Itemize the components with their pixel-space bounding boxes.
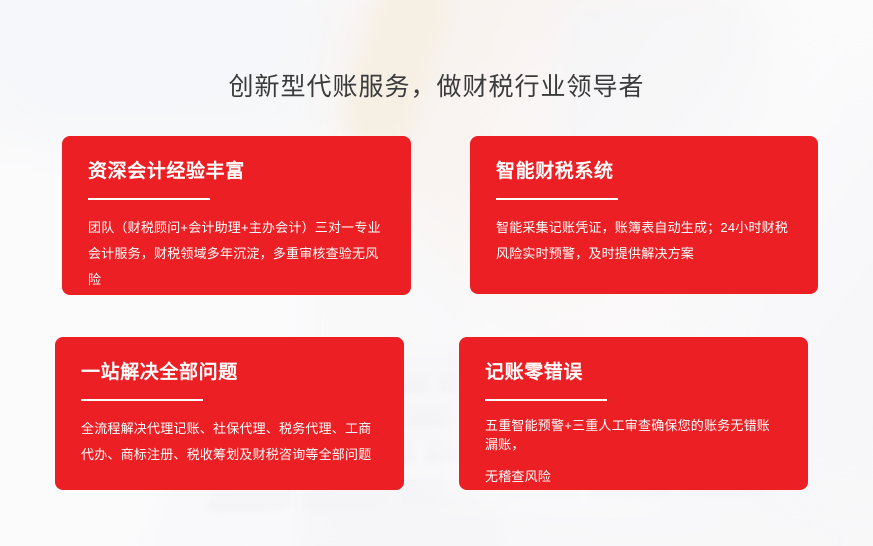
feature-card-smart-tax-system[interactable]: 智能财税系统 智能采集记账凭证，账簿表自动生成；24小时财税风险实时预警，及时提… <box>470 136 818 294</box>
feature-card-body-secondary: 无稽查风险 <box>485 467 782 486</box>
feature-card-body: 全流程解决代理记账、社保代理、税务代理、工商代办、商标注册、税收筹划及财税咨询等… <box>81 416 378 468</box>
feature-card-title: 一站解决全部问题 <box>81 361 378 385</box>
feature-card-body: 五重智能预警+三重人工审查确保您的账务无错账漏账， <box>485 416 782 454</box>
feature-card-one-stop-solution[interactable]: 一站解决全部问题 全流程解决代理记账、社保代理、税务代理、工商代办、商标注册、税… <box>55 337 404 490</box>
content-layer: 创新型代账服务，做财税行业领导者 资深会计经验丰富 团队（财税顾问+会计助理+主… <box>0 0 873 546</box>
feature-card-divider <box>81 399 203 401</box>
feature-card-body: 团队（财税顾问+会计助理+主办会计）三对一专业会计服务，财税领域多年沉淀，多重审… <box>88 215 385 293</box>
promo-page: 创新型代账服务，做财税行业领导者 资深会计经验丰富 团队（财税顾问+会计助理+主… <box>0 0 873 546</box>
feature-card-divider <box>485 399 607 401</box>
feature-card-zero-error-bookkeeping[interactable]: 记账零错误 五重智能预警+三重人工审查确保您的账务无错账漏账， 无稽查风险 <box>459 337 808 490</box>
feature-card-title: 资深会计经验丰富 <box>88 160 385 184</box>
feature-card-senior-accountants[interactable]: 资深会计经验丰富 团队（财税顾问+会计助理+主办会计）三对一专业会计服务，财税领… <box>62 136 411 295</box>
page-headline: 创新型代账服务，做财税行业领导者 <box>0 71 873 103</box>
feature-card-divider <box>496 198 618 200</box>
feature-card-title: 智能财税系统 <box>496 160 792 184</box>
feature-card-title: 记账零错误 <box>485 361 782 385</box>
feature-card-body: 智能采集记账凭证，账簿表自动生成；24小时财税风险实时预警，及时提供解决方案 <box>496 215 792 267</box>
feature-card-divider <box>88 198 210 200</box>
